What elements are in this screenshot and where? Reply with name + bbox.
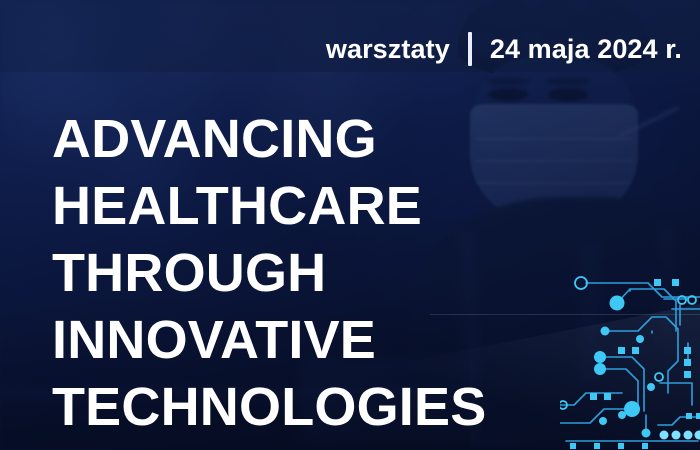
kicker-divider <box>468 32 472 66</box>
headline-line-2: HEALTHCARE <box>52 173 486 240</box>
banner-headline: ADVANCING HEALTHCARE THROUGH INNOVATIVE … <box>52 106 486 441</box>
headline-line-3: THROUGH <box>52 240 486 307</box>
event-date-label: 24 maja 2024 r. <box>490 36 682 63</box>
circuit-board-icon <box>560 265 700 450</box>
headline-line-1: ADVANCING <box>52 106 486 173</box>
headline-line-4: INNOVATIVE <box>52 307 486 374</box>
event-type-label: warsztaty <box>326 36 450 63</box>
headline-line-5: TECHNOLOGIES <box>52 374 486 441</box>
banner-kicker: warsztaty 24 maja 2024 r. <box>326 32 682 66</box>
event-banner: warsztaty 24 maja 2024 r. ADVANCING HEAL… <box>0 0 700 450</box>
